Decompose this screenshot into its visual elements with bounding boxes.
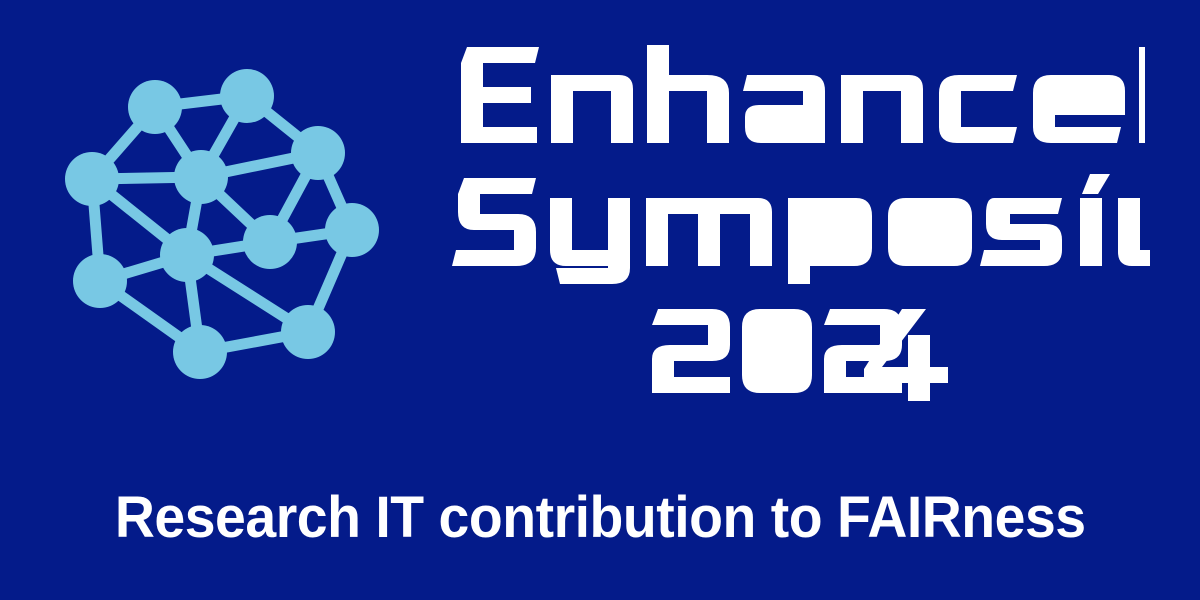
graph-node (220, 69, 274, 123)
graph-node (243, 215, 297, 269)
title-line-enhancer: EnhanceR (420, 30, 1180, 160)
graph-node (291, 126, 345, 180)
subtitle-text: Research IT contribution to FAIRness (115, 489, 1086, 547)
enhancer-lettering: EnhanceR (455, 45, 1145, 145)
year-lettering: 2024 (650, 309, 950, 401)
network-graph-svg (40, 55, 380, 395)
symposium-lettering: Symposium (450, 172, 1150, 284)
graph-node (73, 254, 127, 308)
graph-node (128, 80, 182, 134)
title-line-symposium: Symposium (420, 160, 1180, 295)
graph-nodes-group (65, 69, 379, 379)
subtitle-bar: Research IT contribution to FAIRness (0, 470, 1200, 565)
graph-node (160, 228, 214, 282)
graph-node (173, 325, 227, 379)
graph-node (325, 203, 379, 257)
graph-node (281, 305, 335, 359)
wordmark-block: EnhanceR (420, 30, 1180, 430)
graph-node (174, 150, 228, 204)
poster-canvas: EnhanceR (0, 0, 1200, 600)
graph-node (65, 152, 119, 206)
title-line-year: 2024 (420, 295, 1180, 415)
network-graph-logo (40, 55, 380, 395)
